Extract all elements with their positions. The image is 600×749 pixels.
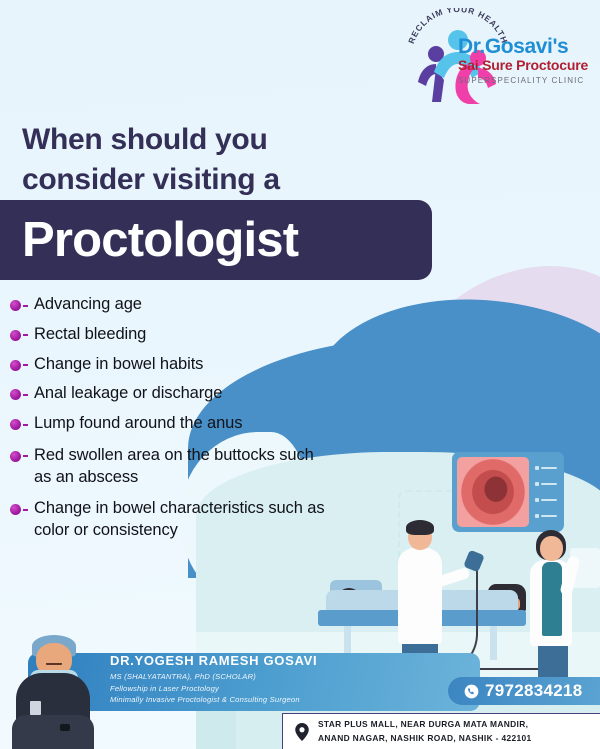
headline-line-1: When should you bbox=[22, 120, 442, 160]
list-item-label: Lump found around the anus bbox=[34, 413, 242, 435]
bullet-marker-icon bbox=[10, 383, 34, 400]
bullet-dot-icon bbox=[10, 330, 21, 341]
list-item: Lump found around the anus bbox=[10, 413, 330, 435]
logo-line-3: SUPERSPECIALITY CLINIC bbox=[458, 75, 590, 87]
monitor-screen-colon-view bbox=[457, 457, 529, 527]
logo-line-1: Dr.Gosavi's bbox=[458, 36, 590, 57]
credential-line-2: Fellowship in Laser Proctology bbox=[110, 683, 460, 694]
credential-line-1: MS (SHALYATANTRA), PhD (SCHOLAR) bbox=[110, 671, 460, 682]
clinic-address: STAR PLUS MALL, NEAR DURGA MATA MANDIR, … bbox=[282, 713, 600, 749]
list-item-label: Red swollen area on the buttocks such as… bbox=[34, 445, 330, 489]
bullet-marker-icon bbox=[10, 445, 34, 462]
headline-line-2: consider visiting a bbox=[22, 160, 442, 200]
list-item: Rectal bleeding bbox=[10, 324, 330, 346]
address-line-1: STAR PLUS MALL, NEAR DURGA MATA MANDIR, bbox=[318, 718, 532, 731]
phone-icon bbox=[464, 684, 479, 699]
doctor-name: DR.YOGESH RAMESH GOSAVI bbox=[110, 653, 460, 668]
bullet-marker-icon bbox=[10, 354, 34, 371]
portrait-id-badge bbox=[30, 701, 41, 715]
symptoms-list: Advancing ageRectal bleedingChange in bo… bbox=[10, 294, 330, 550]
bullet-dash-icon bbox=[23, 394, 28, 396]
phone-badge[interactable]: 7972834218 bbox=[448, 677, 600, 705]
list-item: Change in bowel characteristics such as … bbox=[10, 498, 330, 542]
bullet-dash-icon bbox=[23, 334, 28, 336]
male-doctor-hair bbox=[406, 520, 434, 535]
list-item: Red swollen area on the buttocks such as… bbox=[10, 445, 330, 489]
list-item-label: Rectal bleeding bbox=[34, 324, 146, 346]
bullet-dot-icon bbox=[10, 451, 21, 462]
address-text: STAR PLUS MALL, NEAR DURGA MATA MANDIR, … bbox=[318, 718, 532, 744]
colonoscopy-monitor bbox=[452, 452, 564, 532]
logo-line-2: Sai Sure Proctocure bbox=[458, 57, 590, 75]
bullet-dot-icon bbox=[10, 300, 21, 311]
title-emphasis-box: Proctologist bbox=[0, 200, 432, 280]
bullet-dash-icon bbox=[23, 305, 28, 307]
bullet-marker-icon bbox=[10, 498, 34, 515]
female-doctor-scrubs bbox=[542, 562, 562, 636]
female-doctor-face bbox=[540, 536, 563, 561]
bullet-dot-icon bbox=[10, 360, 21, 371]
title-emphasis-text: Proctologist bbox=[22, 216, 298, 265]
bullet-dash-icon bbox=[23, 455, 28, 457]
clinic-logo[interactable]: RECLAIM YOUR HEALTH Dr.Gosavi's Sai Sure… bbox=[398, 8, 588, 106]
location-pin-icon bbox=[295, 723, 309, 741]
table-leg-right bbox=[490, 626, 497, 660]
list-item-label: Change in bowel characteristics such as … bbox=[34, 498, 330, 542]
doctor-portrait bbox=[0, 629, 96, 749]
page-title: When should you consider visiting a bbox=[22, 120, 442, 199]
male-doctor-coat bbox=[398, 548, 442, 644]
clinic-promo-poster: RECLAIM YOUR HEALTH Dr.Gosavi's Sai Sure… bbox=[0, 0, 600, 749]
credential-line-3: Minimally Invasive Proctologist & Consul… bbox=[110, 694, 460, 705]
phone-number: 7972834218 bbox=[485, 681, 583, 701]
bullet-dash-icon bbox=[23, 424, 28, 426]
list-item-label: Change in bowel habits bbox=[34, 354, 203, 376]
bullet-dash-icon bbox=[23, 509, 28, 511]
bullet-dot-icon bbox=[10, 504, 21, 515]
list-item: Change in bowel habits bbox=[10, 354, 330, 376]
list-item: Anal leakage or discharge bbox=[10, 383, 330, 405]
list-item-label: Anal leakage or discharge bbox=[34, 383, 222, 405]
portrait-crossed-arms bbox=[12, 715, 94, 749]
bullet-dot-icon bbox=[10, 419, 21, 430]
bullet-marker-icon bbox=[10, 294, 34, 311]
bullet-marker-icon bbox=[10, 324, 34, 341]
monitor-control-panel bbox=[533, 457, 559, 527]
doctor-credentials-block: DR.YOGESH RAMESH GOSAVI MS (SHALYATANTRA… bbox=[110, 653, 460, 705]
address-line-2: ANAND NAGAR, NASHIK ROAD, NASHIK - 42210… bbox=[318, 732, 532, 745]
bullet-dot-icon bbox=[10, 389, 21, 400]
bullet-dash-icon bbox=[23, 364, 28, 366]
bullet-marker-icon bbox=[10, 413, 34, 430]
logo-wordmark: Dr.Gosavi's Sai Sure Proctocure SUPERSPE… bbox=[458, 36, 590, 87]
doctor-credentials: MS (SHALYATANTRA), PhD (SCHOLAR) Fellows… bbox=[110, 671, 460, 705]
portrait-watch bbox=[60, 724, 70, 731]
list-item: Advancing age bbox=[10, 294, 330, 316]
list-item-label: Advancing age bbox=[34, 294, 142, 316]
